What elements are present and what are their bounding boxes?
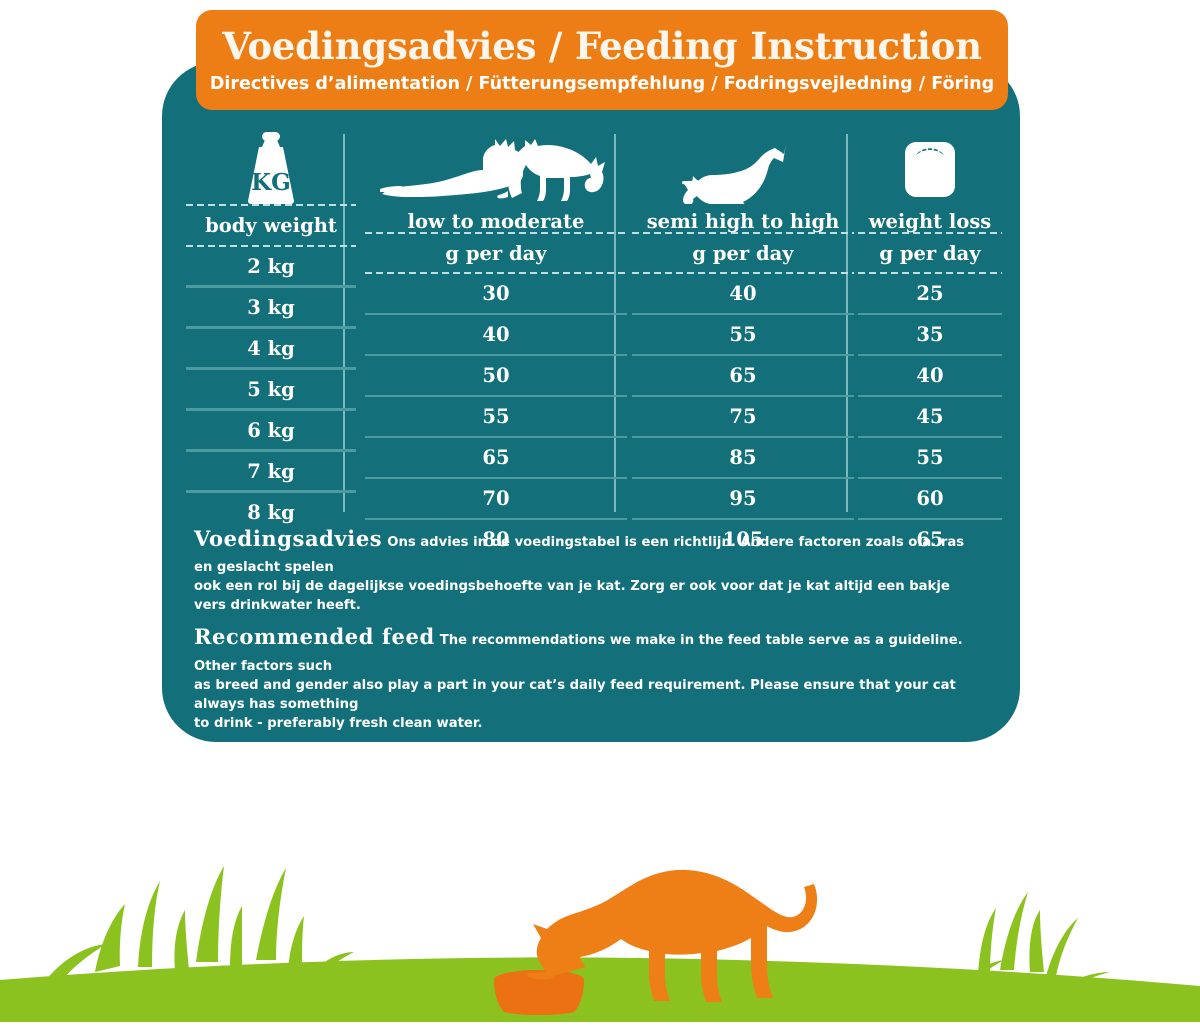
cell-low-to-moderate: 55: [365, 397, 627, 436]
advice-block: VoedingsadviesOns advies in de voedingst…: [194, 524, 984, 857]
running-cat-icon: [632, 130, 854, 204]
column-unit-weight-loss: g per day: [858, 234, 1002, 273]
advice-paragraph-en: Recommended feedThe recommendations we m…: [194, 622, 984, 732]
column-unit-body-weight: body weight: [186, 206, 356, 245]
cell-weight-loss: 25: [858, 274, 1002, 313]
cell-semi-high-to-high: 55: [632, 315, 854, 354]
advice-heading-en: Recommended feed: [194, 624, 435, 649]
table-column-low-to-moderate: low to moderate g per day 30 40 50 55 65…: [365, 130, 627, 559]
cell-semi-high-to-high: 85: [632, 438, 854, 477]
cell-weight-loss: 40: [858, 356, 1002, 395]
svg-text:KG: KG: [251, 169, 291, 196]
cell-semi-high-to-high: 40: [632, 274, 854, 313]
cell-semi-high-to-high: 65: [632, 356, 854, 395]
cell-low-to-moderate: 70: [365, 479, 627, 518]
advice-line-nl: ook een rol bij de dagelijkse voedingsbe…: [194, 577, 984, 615]
cell-body-weight: 5 kg: [186, 370, 356, 409]
kg-weight-icon: KG: [186, 130, 356, 204]
advice-line-en: to drink - preferably fresh clean water.: [194, 714, 984, 733]
cell-weight-loss: 55: [858, 438, 1002, 477]
cell-weight-loss: 35: [858, 315, 1002, 354]
cell-low-to-moderate: 40: [365, 315, 627, 354]
cell-low-to-moderate: 30: [365, 274, 627, 313]
table-column-body-weight: KG body weight 2 kg 3 kg 4 kg 5 kg 6 kg …: [186, 130, 356, 531]
feeding-instruction-card: KG body weight 2 kg 3 kg 4 kg 5 kg 6 kg …: [162, 62, 1020, 742]
page-title: Voedingsadvies / Feeding Instruction: [196, 28, 1008, 65]
advice-heading-fr: Conseil alimentaire: [194, 742, 436, 767]
advice-paragraph-nl: VoedingsadviesOns advies in de voedingst…: [194, 524, 984, 615]
lying-cat-icon: [365, 130, 627, 204]
cell-body-weight: 7 kg: [186, 452, 356, 491]
cell-low-to-moderate: 65: [365, 438, 627, 477]
column-label-semi-high-to-high: semi high to high: [632, 204, 854, 232]
column-unit-low-to-moderate: g per day: [365, 234, 627, 273]
bathroom-scale-icon: [858, 130, 1002, 204]
table-column-weight-loss: weight loss g per day 25 35 40 45 55 60 …: [858, 130, 1002, 559]
bottom-illustration: [0, 812, 1200, 1022]
title-banner: Voedingsadvies / Feeding Instruction Dir…: [196, 10, 1008, 110]
advice-line-en: as breed and gender also play a part in …: [194, 676, 984, 714]
cell-body-weight: 3 kg: [186, 288, 356, 327]
cell-low-to-moderate: 50: [365, 356, 627, 395]
advice-heading-nl: Voedingsadvies: [194, 526, 382, 551]
page-subtitle: Directives d’alimentation / Fütterungsem…: [196, 76, 1008, 94]
cell-weight-loss: 60: [858, 479, 1002, 518]
feeding-table: KG body weight 2 kg 3 kg 4 kg 5 kg 6 kg …: [162, 62, 1020, 522]
table-column-semi-high-to-high: semi high to high g per day 40 55 65 75 …: [632, 130, 854, 559]
cell-semi-high-to-high: 75: [632, 397, 854, 436]
cell-weight-loss: 45: [858, 397, 1002, 436]
column-unit-semi-high-to-high: g per day: [632, 234, 854, 273]
cell-semi-high-to-high: 95: [632, 479, 854, 518]
cell-body-weight: 2 kg: [186, 247, 356, 286]
cell-body-weight: 4 kg: [186, 329, 356, 368]
cell-body-weight: 6 kg: [186, 411, 356, 450]
column-label-low-to-moderate: low to moderate: [365, 204, 627, 232]
column-label-weight-loss: weight loss: [858, 204, 1002, 232]
